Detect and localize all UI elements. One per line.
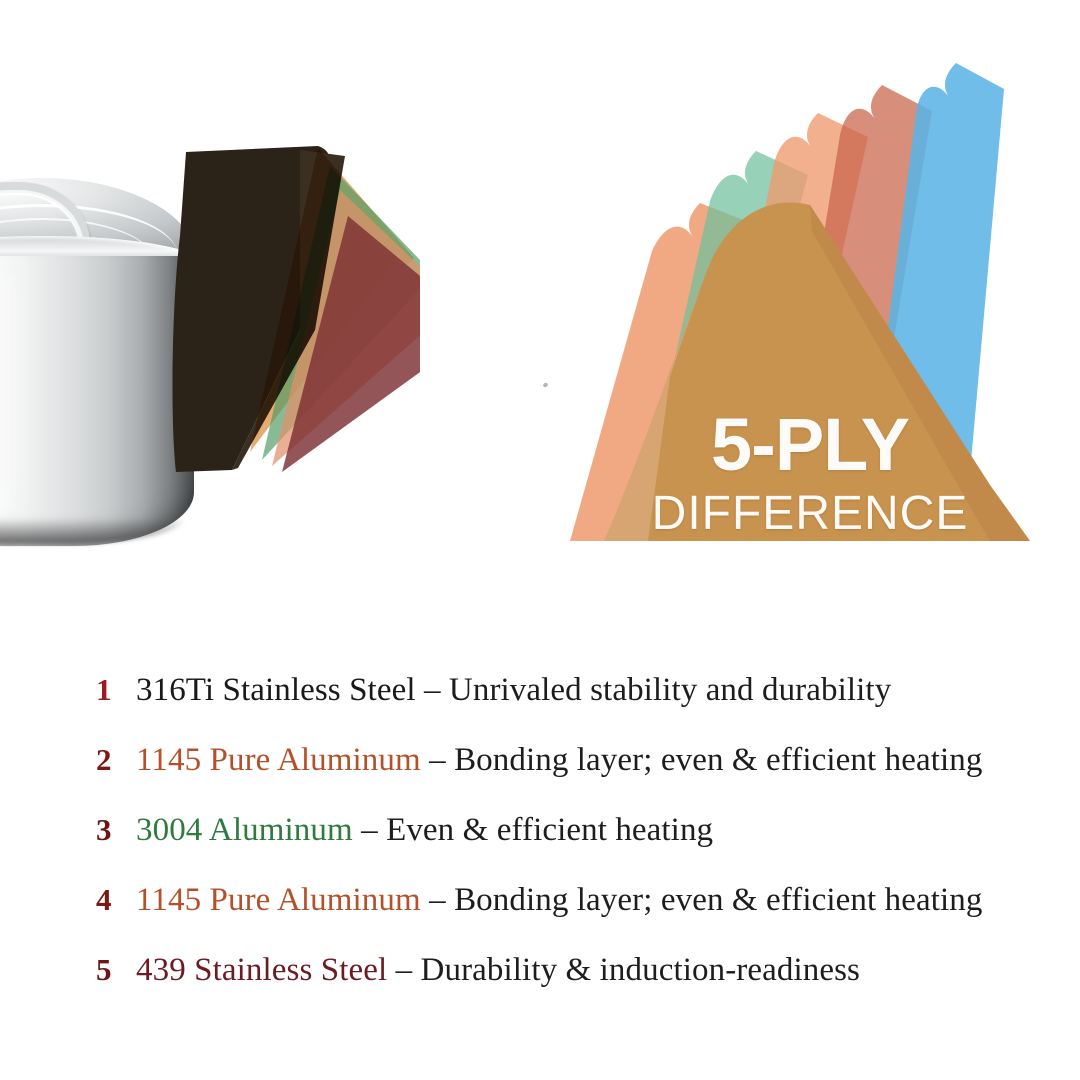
legend-text: 1145 Pure Aluminum – Bonding layer; even…: [136, 742, 982, 779]
legend-material: 3004 Aluminum: [136, 812, 353, 848]
legend-text: 3004 Aluminum – Even & efficient heating: [136, 812, 713, 849]
legend-number: 3: [96, 812, 136, 848]
legend-separator: –: [421, 882, 454, 918]
legend-separator: –: [353, 812, 386, 848]
layer-legend: 1 316Ti Stainless Steel – Unrivaled stab…: [0, 672, 1080, 1022]
legend-number: 5: [96, 952, 136, 988]
legend-row: 2 1145 Pure Aluminum – Bonding layer; ev…: [0, 742, 1080, 812]
legend-material: 439 Stainless Steel: [136, 952, 387, 988]
legend-number: 2: [96, 742, 136, 778]
five-ply-fan-graphic: [560, 55, 1060, 565]
legend-row: 4 1145 Pure Aluminum – Bonding layer; ev…: [0, 882, 1080, 952]
legend-description: Bonding layer; even & efficient heating: [454, 742, 982, 778]
legend-number: 1: [96, 672, 136, 708]
legend-row: 5 439 Stainless Steel – Durability & ind…: [0, 952, 1080, 1022]
legend-separator: –: [416, 672, 449, 708]
legend-description: Unrivaled stability and durability: [449, 672, 891, 708]
legend-description: Durability & induction-readiness: [421, 952, 860, 988]
pot-body-shadow: [0, 518, 184, 544]
legend-row: 3 3004 Aluminum – Even & efficient heati…: [0, 812, 1080, 882]
legend-row: 1 316Ti Stainless Steel – Unrivaled stab…: [0, 672, 1080, 742]
legend-separator: –: [421, 742, 454, 778]
pot-layer-fan: [0, 0, 420, 480]
legend-separator: –: [387, 952, 420, 988]
legend-text: 439 Stainless Steel – Durability & induc…: [136, 952, 860, 989]
legend-material: 1145 Pure Aluminum: [136, 882, 421, 918]
legend-description: Bonding layer; even & efficient heating: [454, 882, 982, 918]
product-infographic: 5-PLY DIFFERENCE 1 316Ti Stainless Steel…: [0, 0, 1080, 1080]
image-artifact-speck: [542, 382, 548, 388]
legend-text: 1145 Pure Aluminum – Bonding layer; even…: [136, 882, 982, 919]
legend-description: Even & efficient heating: [386, 812, 713, 848]
legend-material: 1145 Pure Aluminum: [136, 742, 421, 778]
legend-number: 4: [96, 882, 136, 918]
legend-text: 316Ti Stainless Steel – Unrivaled stabil…: [136, 672, 891, 709]
legend-material: 316Ti Stainless Steel: [136, 672, 416, 708]
